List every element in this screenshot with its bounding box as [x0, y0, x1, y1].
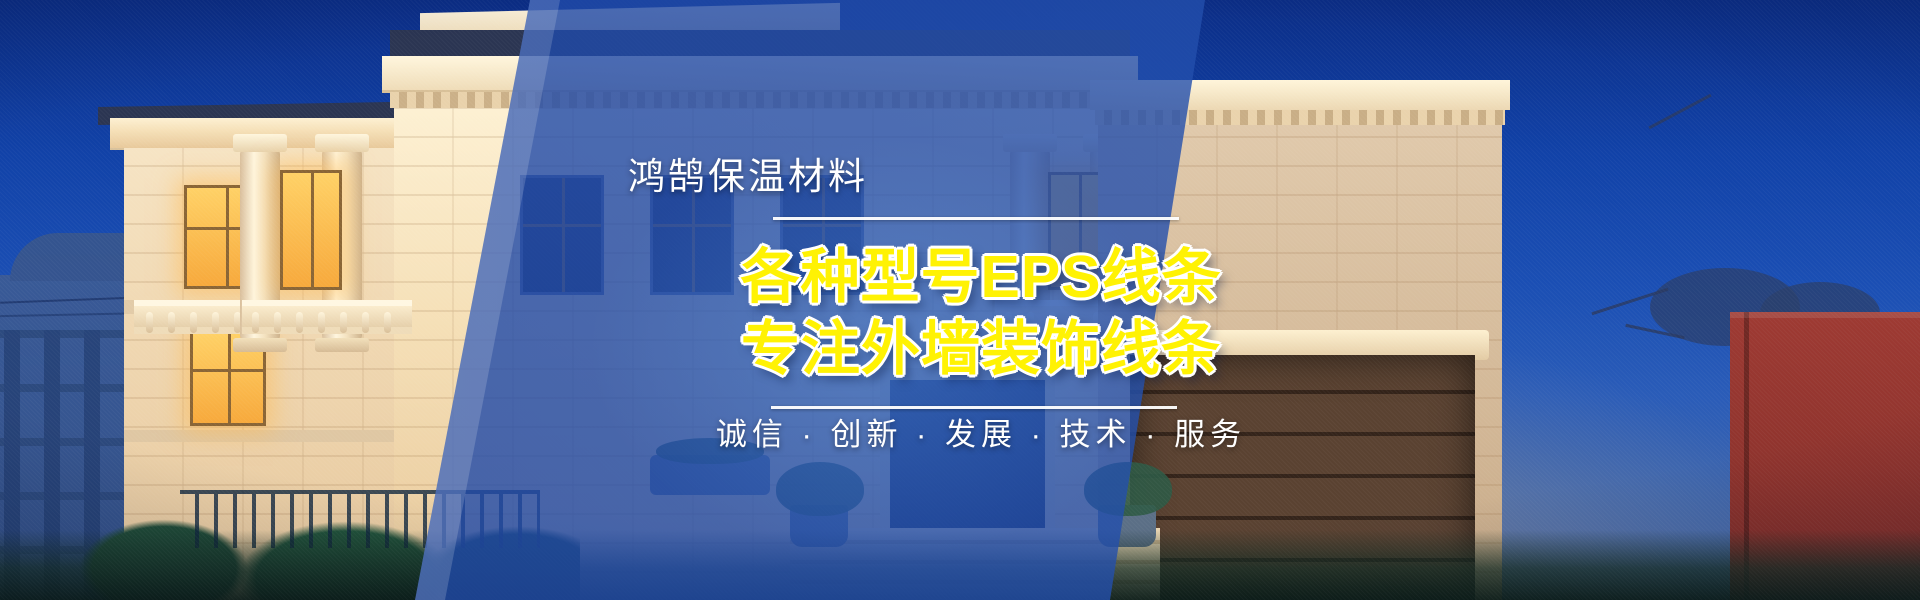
- headline-line-1: 各种型号EPS线条: [740, 244, 1221, 310]
- divider-top: [773, 217, 1179, 220]
- company-name: 鸿鹄保温材料: [628, 146, 868, 200]
- banner-text-block: 鸿鹄保温材料 各种型号EPS线条 专注外墙装饰线条 诚信 · 创新 · 发展 ·…: [0, 0, 1920, 600]
- company-tagline: 诚信 · 创新 · 发展 · 技术 · 服务: [716, 409, 1246, 454]
- headline-line-2: 专注外墙装饰线条: [741, 316, 1221, 382]
- divider-bottom: [771, 406, 1177, 409]
- promo-banner: 鸿鹄保温材料 各种型号EPS线条 专注外墙装饰线条 诚信 · 创新 · 发展 ·…: [0, 0, 1920, 600]
